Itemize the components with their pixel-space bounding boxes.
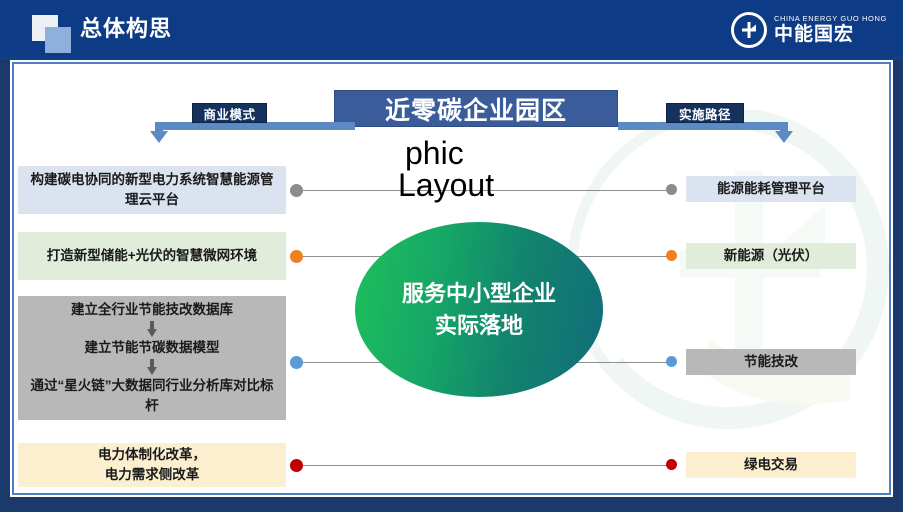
- connector-dot-left-2: [290, 250, 303, 263]
- logo-chinese-name: 中能国宏: [774, 24, 887, 46]
- connector-line-4: [296, 465, 672, 466]
- left-item-1[interactable]: 构建碳电协同的新型电力系统智慧能源管理云平台: [18, 166, 286, 214]
- frame-left-border: [0, 60, 10, 512]
- right-item-2-label: 新能源（光伏）: [724, 246, 819, 266]
- left-item-2[interactable]: 打造新型储能+光伏的智慧微网环境: [18, 232, 286, 280]
- circle-power-logo-icon: [731, 12, 767, 48]
- right-item-2[interactable]: 新能源（光伏）: [686, 243, 856, 269]
- connector-dot-right-4: [666, 459, 677, 470]
- right-item-3[interactable]: 节能技改: [686, 349, 856, 375]
- tag-implementation-path[interactable]: 实施路径: [666, 103, 744, 123]
- connector-dot-left-3: [290, 356, 303, 369]
- down-arrow-icon: [147, 359, 157, 375]
- right-item-1[interactable]: 能源能耗管理平台: [686, 176, 856, 202]
- tag-business-model[interactable]: 商业模式: [192, 103, 267, 123]
- slide-canvas: 总体构思 CHINA ENERGY GUO HONG 中能国宏: [0, 0, 903, 512]
- slide-header: 总体构思 CHINA ENERGY GUO HONG 中能国宏: [0, 0, 903, 60]
- diagram-center-title: 近零碳企业园区: [334, 90, 618, 127]
- logo-text-group: CHINA ENERGY GUO HONG 中能国宏: [774, 14, 887, 46]
- header-square-blue-icon: [45, 27, 71, 53]
- connector-dot-left-1: [290, 184, 303, 197]
- connector-dot-right-2: [666, 250, 677, 261]
- frame-bottom-border: [0, 497, 903, 512]
- logo-english-name: CHINA ENERGY GUO HONG: [774, 14, 887, 24]
- right-item-3-label: 节能技改: [744, 352, 798, 372]
- overlay-text-line2: Layout: [398, 163, 494, 207]
- down-arrow-icon: [147, 321, 157, 337]
- left-item-1-label: 构建碳电协同的新型电力系统智慧能源管理云平台: [26, 170, 278, 210]
- page-title: 总体构思: [80, 14, 172, 44]
- left-item-3[interactable]: 建立全行业节能技改数据库 建立节能节碳数据模型 通过“星火链”大数据同行业分析库…: [18, 296, 286, 420]
- header-underline: [0, 57, 903, 60]
- company-logo: CHINA ENERGY GUO HONG 中能国宏: [731, 8, 881, 52]
- left-item-3-line1: 建立全行业节能技改数据库: [71, 300, 233, 320]
- connector-dot-right-1: [666, 184, 677, 195]
- center-node-line2: 实际落地: [435, 310, 523, 342]
- frame-right-border: [893, 60, 903, 512]
- left-item-3-line3: 通过“星火链”大数据同行业分析库对比标杆: [26, 376, 278, 416]
- connector-dot-right-3: [666, 356, 677, 367]
- left-item-3-line2: 建立节能节碳数据模型: [85, 338, 220, 358]
- right-item-4-label: 绿电交易: [744, 455, 798, 475]
- left-item-4-label: 电力体制化改革， 电力需求侧改革: [98, 445, 206, 485]
- right-item-1-label: 能源能耗管理平台: [717, 179, 825, 199]
- left-branch-arrow-bar: [155, 122, 355, 130]
- center-node: 服务中小型企业 实际落地: [355, 222, 603, 397]
- right-branch-arrow-head-icon: [775, 131, 793, 143]
- left-branch-arrow-head-icon: [150, 131, 168, 143]
- left-item-2-label: 打造新型储能+光伏的智慧微网环境: [47, 246, 257, 266]
- left-item-4[interactable]: 电力体制化改革， 电力需求侧改革: [18, 443, 286, 487]
- right-item-4[interactable]: 绿电交易: [686, 452, 856, 478]
- right-branch-arrow-bar: [618, 122, 788, 130]
- center-node-line1: 服务中小型企业: [402, 278, 556, 310]
- connector-dot-left-4: [290, 459, 303, 472]
